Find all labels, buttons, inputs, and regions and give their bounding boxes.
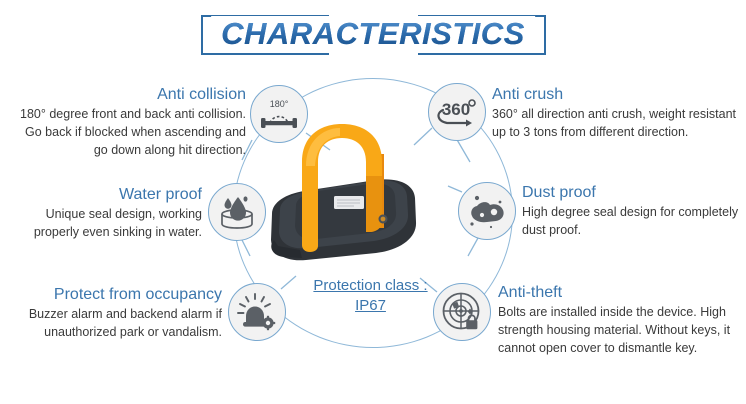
feature-title-anti-collision: Anti collision	[8, 86, 246, 104]
product-bolt-inner	[381, 217, 386, 222]
feature-title-protect-occupancy: Protect from occupancy	[28, 286, 222, 304]
dust-particle-bottom	[470, 222, 473, 225]
dust-blob-icon	[466, 192, 508, 230]
title-frame: CHARACTERISTICS CHARACTERISTICS	[201, 11, 546, 57]
feature-title-anti-crush: Anti crush	[492, 86, 742, 104]
feature-anti-collision: Anti collision 180° degree front and bac…	[8, 86, 246, 160]
feature-title-anti-theft: Anti-theft	[498, 284, 742, 302]
feature-title-water-proof: Water proof	[4, 186, 202, 204]
product-hoop-highlight	[306, 128, 340, 166]
lock-body	[466, 320, 477, 329]
rotation-360-icon: 360	[434, 95, 480, 129]
feature-protect-occupancy: Protect from occupancy Buzzer alarm and …	[28, 286, 222, 342]
water-small-drop	[225, 198, 232, 209]
product-hoop-front-leg	[302, 176, 318, 252]
dust-hole-large	[491, 209, 497, 215]
feature-body-anti-crush: 360° all direction anti crush, weight re…	[492, 106, 742, 142]
collision-cap-right	[293, 118, 298, 128]
feature-body-protect-occupancy: Buzzer alarm and backend alarm if unauth…	[28, 306, 222, 342]
dust-main-blob	[471, 202, 503, 222]
rotation-icon-label: 360	[442, 100, 470, 119]
alarm-dome	[246, 307, 264, 323]
radar-lock	[466, 315, 477, 329]
feature-body-dust-proof: High degree seal design for completely d…	[522, 204, 744, 240]
collision-bar	[263, 121, 295, 125]
icon-bubble-anti-theft[interactable]	[433, 283, 491, 341]
title-text: CHARACTERISTICS	[211, 16, 535, 52]
product-label-sticker	[334, 196, 364, 209]
feature-anti-theft: Anti-theft Bolts are installed inside th…	[498, 284, 742, 358]
protection-class-value: IP67	[355, 297, 386, 316]
rotation-arrow-head	[466, 120, 472, 127]
protection-class-label: Protection class :	[313, 277, 427, 296]
water-tiny-drop	[244, 196, 248, 201]
collision-cap-left	[261, 118, 266, 128]
radar-lock-icon	[441, 291, 483, 333]
alarm-siren-icon	[236, 292, 278, 332]
feature-body-anti-theft: Bolts are installed inside the device. H…	[498, 304, 742, 357]
icon-bubble-water-proof[interactable]	[208, 183, 266, 241]
feature-anti-crush: Anti crush 360° all direction anti crush…	[492, 86, 742, 142]
collision-icon-label: 180°	[270, 99, 289, 109]
feature-body-anti-collision: 180° degree front and back anti collisio…	[8, 106, 246, 159]
feature-dust-proof: Dust proof High degree seal design for c…	[522, 184, 744, 240]
dust-hole-small	[480, 213, 484, 217]
feature-body-water-proof: Unique seal design, working properly eve…	[4, 206, 202, 242]
water-drop-icon	[217, 193, 257, 231]
icon-bubble-protect-occupancy[interactable]	[228, 283, 286, 341]
icon-bubble-dust-proof[interactable]	[458, 182, 516, 240]
icon-bubble-anti-crush[interactable]: 360	[428, 83, 486, 141]
icon-bubble-anti-collision[interactable]: 180°	[250, 85, 308, 143]
collision-180-icon: 180°	[257, 94, 301, 134]
feature-water-proof: Water proof Unique seal design, working …	[4, 186, 202, 242]
feature-title-dust-proof: Dust proof	[522, 184, 744, 202]
dust-particle-top	[475, 196, 479, 200]
characteristics-infographic: CHARACTERISTICS CHARACTERISTICS	[0, 0, 746, 404]
dust-particle-right	[499, 201, 502, 204]
dust-particle-bottom-right	[490, 226, 492, 228]
product-hoop-right-leg	[366, 176, 382, 232]
page-title: CHARACTERISTICS CHARACTERISTICS	[0, 8, 746, 60]
